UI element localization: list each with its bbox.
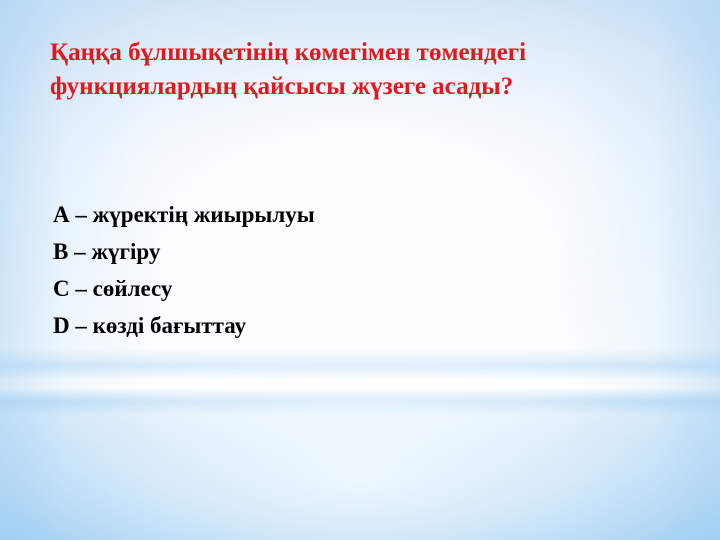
slide-canvas: Қаңқа бұлшықетінің көмегімен төмендегі ф… bbox=[0, 0, 720, 540]
option-dash-a: – bbox=[75, 202, 87, 227]
option-text-d: көзді бағыттау bbox=[93, 313, 246, 338]
option-letter-d: D bbox=[53, 313, 70, 338]
option-dash-c: – bbox=[75, 276, 87, 301]
option-letter-a: A bbox=[53, 202, 70, 227]
answer-option-b[interactable]: B – жүгіру bbox=[53, 233, 653, 270]
option-letter-c: C bbox=[53, 276, 70, 301]
answer-option-c[interactable]: C – сөйлесу bbox=[53, 270, 653, 307]
answer-option-a[interactable]: A – жүректің жиырылуы bbox=[53, 196, 653, 233]
option-text-b: жүгіру bbox=[91, 239, 160, 264]
option-dash-d: – bbox=[75, 313, 87, 338]
option-text-c: сөйлесу bbox=[93, 276, 173, 301]
option-dash-b: – bbox=[74, 239, 86, 264]
question-title: Қаңқа бұлшықетінің көмегімен төмендегі ф… bbox=[50, 36, 690, 104]
answer-option-d[interactable]: D – көзді бағыттау bbox=[53, 307, 653, 344]
option-letter-b: B bbox=[53, 239, 68, 264]
option-text-a: жүректің жиырылуы bbox=[93, 202, 315, 227]
answer-options-list: A – жүректің жиырылуы B – жүгіру C – сөй… bbox=[53, 196, 653, 344]
slide-content: Қаңқа бұлшықетінің көмегімен төмендегі ф… bbox=[0, 0, 720, 540]
